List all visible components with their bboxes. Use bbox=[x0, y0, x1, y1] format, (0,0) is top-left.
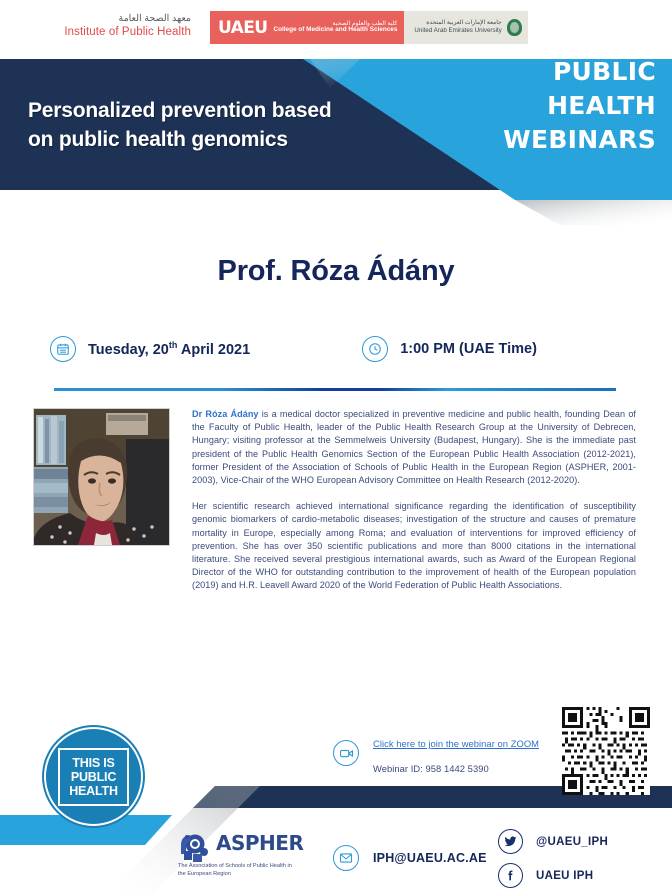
webinar-title: Personalized prevention based on public … bbox=[0, 59, 430, 190]
aspher-mark-icon bbox=[178, 833, 214, 863]
uaeu-college-logo: UAEU كلية الطب والعلوم الصحية College of… bbox=[210, 11, 404, 44]
event-date-label: Tuesday, 20th April 2021 bbox=[88, 340, 250, 358]
series-label: PUBLIC HEALTH WEBINARS bbox=[456, 55, 656, 157]
event-time-label: 1:00 PM (UAE Time) bbox=[400, 341, 537, 357]
badge-line-2: PUBLIC bbox=[69, 770, 118, 784]
iph-logo-english: Institute of Public Health bbox=[46, 25, 191, 39]
badge-line-3: HEALTH bbox=[69, 784, 118, 798]
title-line-2: on public health genomics bbox=[28, 125, 430, 154]
uaeu-logo: UAEU كلية الطب والعلوم الصحية College of… bbox=[210, 11, 528, 44]
bio-lead-name: Dr Róza Ádány bbox=[192, 409, 259, 419]
webinar-poster: معهد الصحة العامة Institute of Public He… bbox=[0, 0, 672, 896]
institute-of-public-health-logo: معهد الصحة العامة Institute of Public He… bbox=[46, 12, 191, 39]
calendar-icon bbox=[50, 336, 76, 362]
aspher-logo: ASPHER bbox=[178, 833, 303, 863]
uaeu-wordmark: UAEU bbox=[218, 18, 267, 38]
uaeu-university-arabic: جامعة الإمارات العربية المتحدة bbox=[414, 20, 501, 27]
facebook-link[interactable]: UAEU IPH bbox=[498, 863, 622, 888]
twitter-link[interactable]: @UAEU_IPH bbox=[498, 829, 622, 854]
title-line-1: Personalized prevention based bbox=[28, 96, 430, 125]
aspher-subtitle: The Association of Schools of Public Hea… bbox=[178, 862, 298, 878]
bio-paragraph-1-text: is a medical doctor specialized in preve… bbox=[192, 409, 636, 485]
social-links: @UAEU_IPH UAEU IPH bbox=[498, 829, 622, 888]
bio-paragraph-2: Her scientific research achieved interna… bbox=[192, 500, 636, 592]
uaeu-university-english: United Arab Emirates University bbox=[414, 27, 501, 34]
speaker-bio: Dr Róza Ádány is a medical doctor specia… bbox=[192, 408, 636, 593]
uaeu-university-logo: جامعة الإمارات العربية المتحدة United Ar… bbox=[404, 11, 527, 44]
header-logo-bar: معهد الصحة العامة Institute of Public He… bbox=[0, 0, 672, 59]
clock-icon bbox=[362, 336, 388, 362]
speaker-photo bbox=[33, 408, 170, 546]
event-time: 1:00 PM (UAE Time) bbox=[362, 336, 537, 362]
speaker-name: Prof. Róza Ádány bbox=[0, 255, 672, 288]
zoom-join-link[interactable]: Click here to join the webinar on ZOOM bbox=[373, 738, 539, 749]
video-camera-icon bbox=[333, 740, 359, 766]
event-meta-row: Tuesday, 20th April 2021 1:00 PM (UAE Ti… bbox=[50, 332, 630, 366]
series-line-2: HEALTH bbox=[456, 89, 656, 123]
this-is-public-health-badge: THIS IS PUBLIC HEALTH bbox=[44, 727, 143, 826]
envelope-icon bbox=[333, 845, 359, 871]
facebook-icon bbox=[498, 863, 523, 888]
series-line-1: PUBLIC bbox=[456, 55, 656, 89]
bio-paragraph-1: Dr Róza Ádány is a medical doctor specia… bbox=[192, 408, 636, 487]
iph-logo-arabic: معهد الصحة العامة bbox=[46, 12, 191, 25]
section-divider bbox=[54, 388, 616, 391]
aspher-wordmark: ASPHER bbox=[216, 833, 303, 853]
badge-line-1: THIS IS bbox=[69, 756, 118, 770]
series-line-3: WEBINARS bbox=[456, 123, 656, 157]
webinar-id: Webinar ID: 958 1442 5390 bbox=[373, 763, 539, 774]
uaeu-college-english: College of Medicine and Health Sciences bbox=[273, 27, 397, 34]
facebook-handle: UAEU IPH bbox=[536, 870, 622, 882]
twitter-icon bbox=[498, 829, 523, 854]
event-date: Tuesday, 20th April 2021 bbox=[50, 336, 250, 362]
contact-email-label: IPH@UAEU.AC.AE bbox=[373, 851, 487, 865]
contact-email[interactable]: IPH@UAEU.AC.AE bbox=[333, 845, 487, 871]
uaeu-crest-icon bbox=[507, 19, 522, 36]
qr-code bbox=[562, 707, 650, 795]
zoom-join-block[interactable]: Click here to join the webinar on ZOOM W… bbox=[333, 738, 539, 774]
twitter-handle: @UAEU_IPH bbox=[536, 836, 622, 848]
